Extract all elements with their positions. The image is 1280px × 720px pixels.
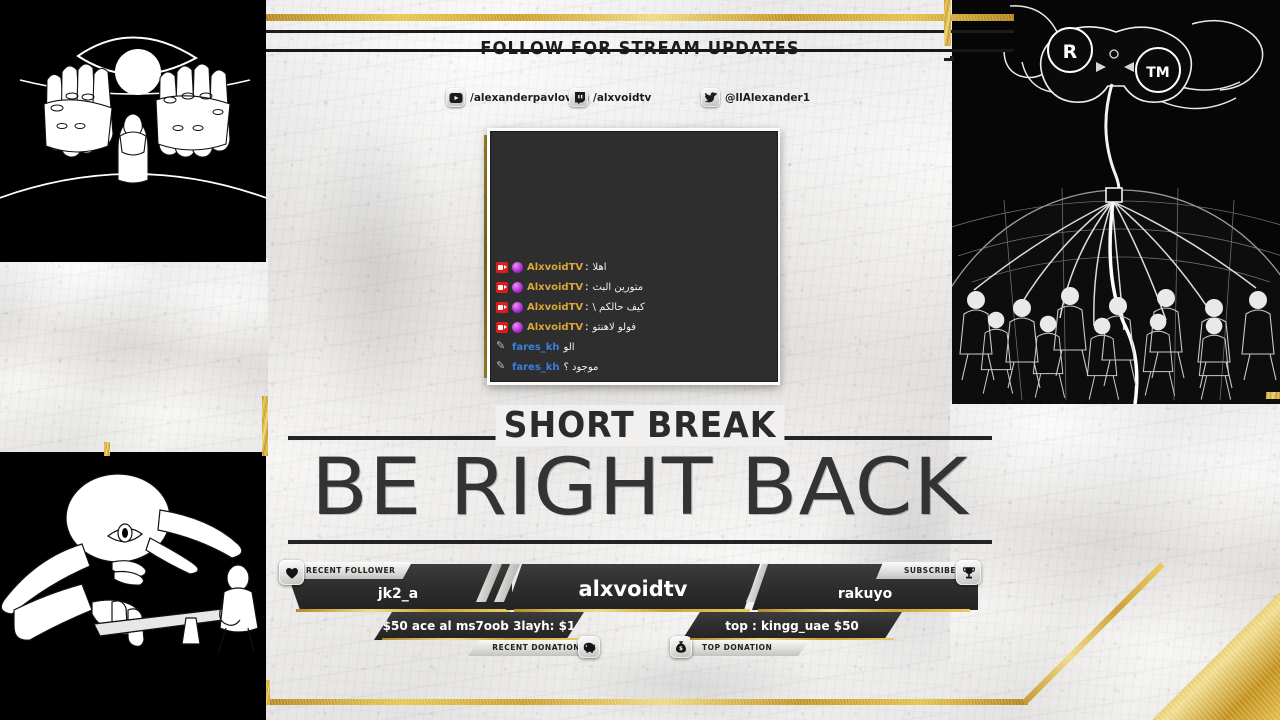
frame-gold-left-tick [104, 442, 110, 456]
social-link-youtube[interactable]: /alexanderpavlovich [446, 88, 589, 107]
recent-donation-label: RECENT DONATION [468, 639, 588, 656]
left-background-strip [0, 258, 268, 454]
recent-follower-label: RECENT FOLLOWER [296, 562, 412, 579]
subscribe-underline [758, 609, 970, 612]
chat-separator: : [585, 302, 588, 313]
recent-donation-underline [382, 638, 578, 640]
frame-gold-bottom [266, 699, 1028, 705]
svg-text:R: R [1063, 41, 1078, 63]
chat-text: الو [564, 342, 575, 353]
piggy-bank-icon[interactable] [578, 636, 600, 658]
frame-gold-top [266, 14, 1014, 21]
brb-headline: BE RIGHT BACK [244, 446, 1037, 530]
subscriber-value: rakuyo [752, 586, 978, 602]
recent-follower-underline [296, 609, 510, 612]
chat-username[interactable]: AlxvoidTV [527, 302, 583, 313]
recent-donation-plate: $50 ace al ms7oob 3layh: $1 [374, 612, 584, 640]
svg-text:$: $ [679, 646, 683, 652]
chat-message: fares_kh موجود ؟ [496, 357, 772, 377]
chat-message: AlxvoidTV : اهلا [496, 257, 772, 277]
chat-text: فولو لاهنتو [593, 322, 637, 333]
brb-subtitle: SHORT BREAK [296, 406, 984, 446]
chat-separator: : [585, 262, 588, 273]
chat-panel[interactable]: AlxvoidTV : اهلا AlxvoidTV : متورين البث… [490, 131, 778, 382]
broadcaster-badge-icon [496, 322, 508, 333]
chat-username[interactable]: fares_kh [512, 342, 560, 353]
channel-name: alxvoidtv [506, 577, 760, 601]
subscriber-badge-icon [512, 322, 523, 333]
follow-header: FOLLOW FOR STREAM UPDATES [266, 38, 1014, 62]
recent-donation-value: $50 ace al ms7oob 3layh: $1 [374, 619, 584, 633]
stream-info-bar: jk2_a RECENT FOLLOWER alxvoidtv rakuyo S… [278, 560, 984, 652]
broadcaster-badge-icon [496, 282, 508, 293]
chat-text: كيف حالكم \ [593, 302, 645, 313]
heart-icon[interactable] [279, 560, 304, 585]
brb-bottom-rule [288, 540, 992, 544]
page-title: FOLLOW FOR STREAM UPDATES [288, 38, 991, 60]
frame-corner-triangle [1124, 564, 1280, 720]
chat-message: AlxvoidTV : كيف حالكم \ [496, 297, 772, 317]
chat-message: AlxvoidTV : متورين البث [496, 277, 772, 297]
broadcaster-badge-icon [496, 302, 508, 313]
social-handle-twitter: @llAlexander1 [725, 92, 810, 104]
chat-text: موجود ؟ [564, 362, 599, 373]
top-donation-plate: top : kingg_uae $50 [682, 612, 902, 640]
subscriber-badge-icon [512, 302, 523, 313]
top-donation-label: TOP DONATION [692, 639, 810, 656]
chat-message: fares_kh الو [496, 337, 772, 357]
broadcaster-badge-icon [496, 262, 508, 273]
chat-username[interactable]: AlxvoidTV [527, 282, 583, 293]
artwork-bottom-left [0, 452, 266, 720]
artwork-top-left [0, 0, 266, 262]
social-link-twitter[interactable]: @llAlexander1 [701, 88, 810, 107]
youtube-icon [446, 88, 465, 107]
chat-separator: : [585, 282, 588, 293]
social-link-twitch[interactable]: /alxvoidtv [569, 88, 651, 107]
moderator-badge-icon [496, 342, 508, 353]
money-bag-icon[interactable]: $ [670, 636, 692, 658]
channel-name-plate: alxvoidtv [506, 564, 760, 610]
subscribe-label: SUBSCRIBE [876, 562, 964, 579]
channel-underline [514, 609, 750, 612]
frame-gold-bottom-left-cap [266, 680, 270, 705]
chat-text: اهلا [593, 262, 607, 273]
chat-username[interactable]: AlxvoidTV [527, 322, 583, 333]
top-donation-value: top : kingg_uae $50 [682, 619, 902, 633]
chat-text: متورين البث [593, 282, 644, 293]
twitter-icon [701, 88, 720, 107]
subscriber-badge-icon [512, 282, 523, 293]
svg-text:TM: TM [1146, 65, 1169, 81]
brb-title-block: SHORT BREAK BE RIGHT BACK [266, 398, 1014, 548]
trophy-icon[interactable] [956, 560, 981, 585]
moderator-badge-icon [496, 362, 508, 373]
chat-username[interactable]: AlxvoidTV [527, 262, 583, 273]
frame-gold-right-tick [1266, 392, 1280, 399]
chat-username[interactable]: fares_kh [512, 362, 560, 373]
stream-overlay-screen: R TM [0, 0, 1280, 720]
chat-separator: : [585, 322, 588, 333]
chat-message: AlxvoidTV : فولو لاهنتو [496, 317, 772, 337]
social-handle-twitch: /alxvoidtv [593, 92, 651, 104]
frame-black-top [266, 30, 1014, 33]
subscriber-badge-icon [512, 262, 523, 273]
twitch-icon [569, 88, 588, 107]
social-links-row: /alexanderpavlovich /alxvoidtv @llAlexan… [266, 88, 1014, 116]
top-donation-underline [690, 638, 894, 640]
